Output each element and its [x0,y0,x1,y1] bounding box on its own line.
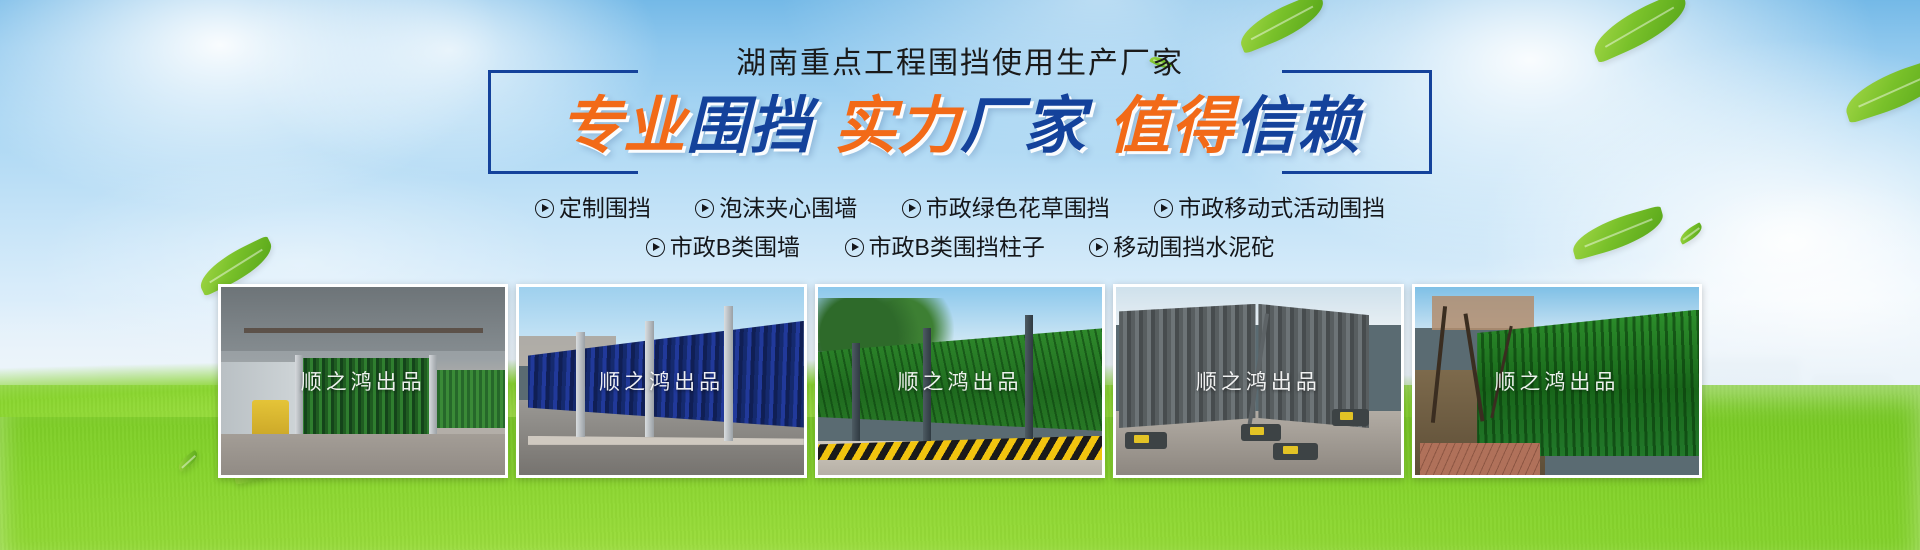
feature-item[interactable]: 泡沫夹心围墙 [695,192,857,224]
product-photo[interactable]: 顺之鸿出品 [1113,284,1403,478]
product-photo[interactable]: 顺之鸿出品 [218,284,508,478]
feature-item[interactable]: 移动围挡水泥砣 [1089,231,1274,263]
feature-list: 定制围挡 泡沫夹心围墙 市政绿色花草围挡 市政移动式活动围挡 市政B类围墙 市政… [0,192,1920,270]
title-segment-4: 厂家 [960,88,1086,166]
feature-item[interactable]: 市政B类围挡柱子 [845,231,1045,263]
feature-label: 市政B类围挡柱子 [869,234,1045,260]
banner-subtitle: 湖南重点工程围挡使用生产厂家 [736,46,1184,82]
feature-label: 泡沫夹心围墙 [719,195,857,221]
bracket-right-vertical [1429,70,1432,174]
product-photo[interactable]: 顺之鸿出品 [1412,284,1702,478]
photo-watermark: 顺之鸿出品 [519,366,803,396]
feature-item[interactable]: 市政B类围墙 [646,231,800,263]
feature-label: 定制围挡 [559,195,651,221]
feature-label: 市政绿色花草围挡 [926,195,1110,221]
promo-banner: 湖南重点工程围挡使用生产厂家 专业围挡实力厂家值得信赖 定制围挡 泡沫夹心围墙 … [0,0,1920,550]
bracket-bottom-left-line [488,171,638,174]
title-segment-6: 信赖 [1234,88,1360,166]
bracket-top-right-line [1282,70,1432,73]
feature-label: 市政移动式活动围挡 [1178,195,1385,221]
product-photo[interactable]: 顺之鸿出品 [815,284,1105,478]
feature-item[interactable]: 市政绿色花草围挡 [902,192,1110,224]
headline-block: 湖南重点工程围挡使用生产厂家 专业围挡实力厂家值得信赖 [0,46,1920,166]
play-circle-icon [695,199,714,218]
feature-item[interactable]: 定制围挡 [535,192,651,224]
feature-row-1: 定制围挡 泡沫夹心围墙 市政绿色花草围挡 市政移动式活动围挡 [0,192,1920,224]
product-photo[interactable]: 顺之鸿出品 [516,284,806,478]
play-circle-icon [535,199,554,218]
product-photo-strip: 顺之鸿出品 顺之鸿出品 顺之鸿出品 [218,284,1702,478]
play-circle-icon [646,238,665,257]
banner-main-title: 专业围挡实力厂家值得信赖 [0,88,1920,166]
title-segment-5: 值得 [1108,88,1234,166]
play-circle-icon [1154,199,1173,218]
title-segment-2: 围挡 [686,88,812,166]
bracket-top-left-line [488,70,638,73]
play-circle-icon [845,238,864,257]
bracket-left-vertical [488,70,491,174]
bracket-bottom-right-line [1282,171,1432,174]
feature-item[interactable]: 市政移动式活动围挡 [1154,192,1385,224]
feature-label: 移动围挡水泥砣 [1113,234,1274,260]
photo-watermark: 顺之鸿出品 [1116,366,1400,396]
title-segment-3: 实力 [834,88,960,166]
photo-watermark: 顺之鸿出品 [1415,366,1699,396]
play-circle-icon [902,199,921,218]
photo-watermark: 顺之鸿出品 [221,366,505,396]
feature-row-2: 市政B类围墙 市政B类围挡柱子 移动围挡水泥砣 [0,231,1920,263]
feature-label: 市政B类围墙 [670,234,800,260]
play-circle-icon [1089,238,1108,257]
title-segment-1: 专业 [560,88,686,166]
photo-watermark: 顺之鸿出品 [818,366,1102,396]
